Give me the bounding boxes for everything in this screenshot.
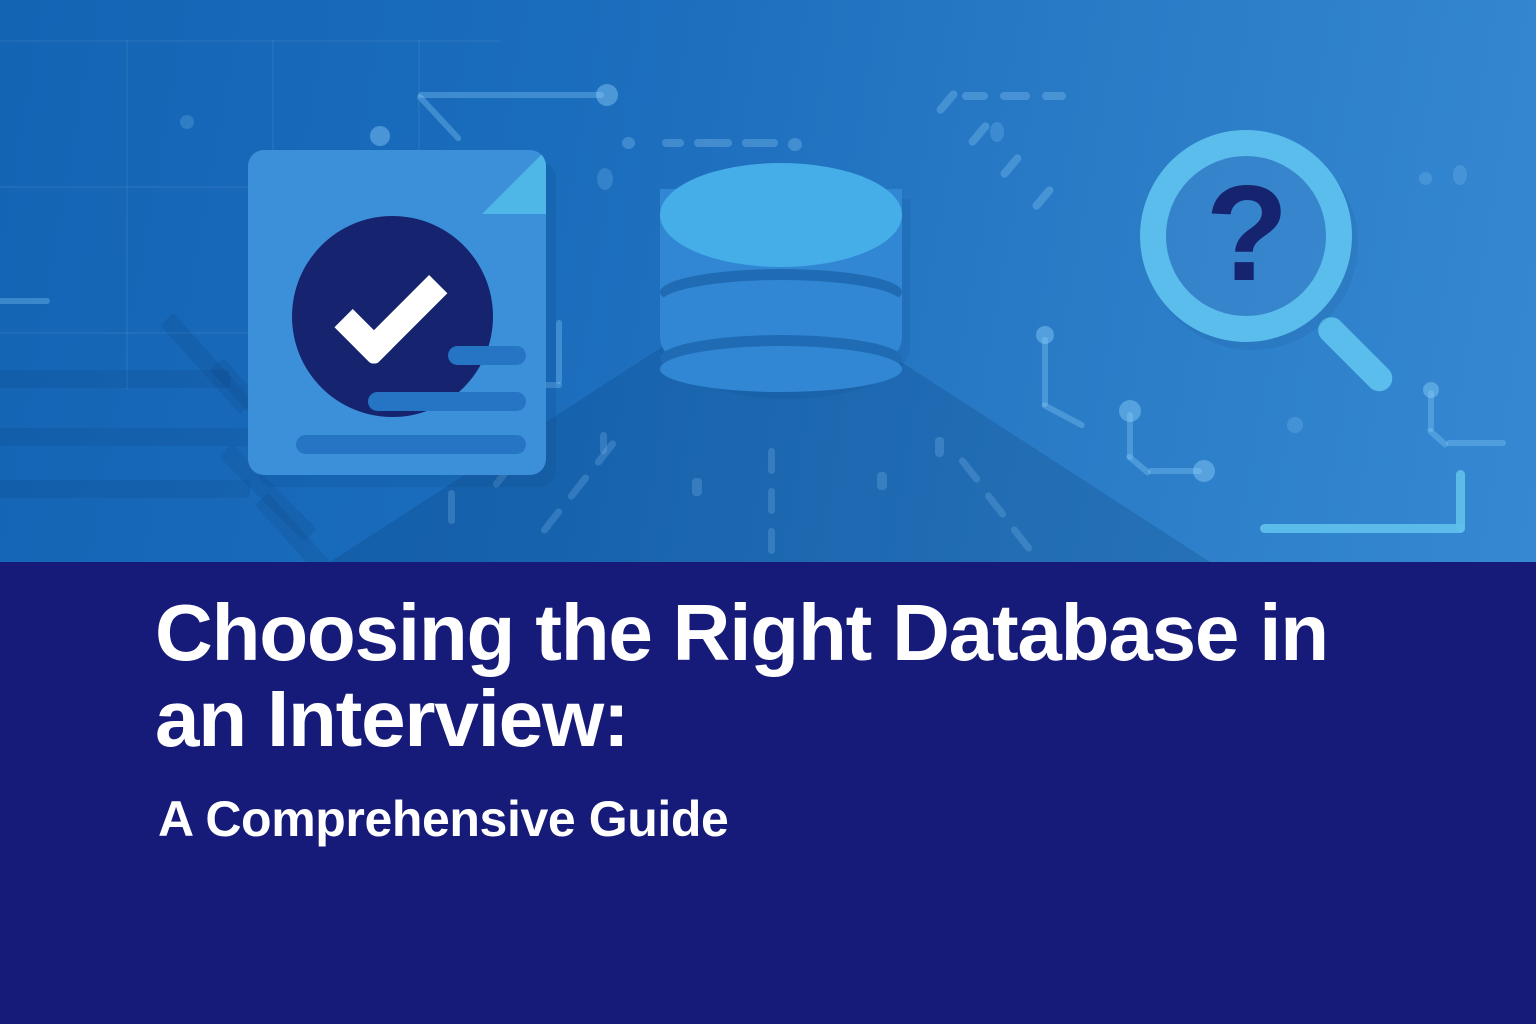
- soft-dot-7: [180, 115, 194, 129]
- verified-document-icon: [248, 150, 546, 475]
- checkmark-badge-icon: [292, 216, 493, 417]
- checkmark-icon: [334, 253, 447, 366]
- dash-run-3-a: [962, 92, 988, 100]
- circuit-trace-fr-h: [1446, 440, 1506, 446]
- dash-run-1-a: [622, 137, 635, 149]
- dash-run-1-b: [662, 139, 684, 147]
- ground-dash-1: [768, 448, 775, 474]
- ground-dash-3: [768, 528, 775, 554]
- circuit-ribbon-6: [0, 480, 250, 498]
- hero-illustration: ?: [0, 0, 1536, 562]
- soft-dot-2: [990, 122, 1004, 142]
- dash-run-3-c: [1042, 92, 1066, 100]
- corner-bracket-horizontal: [1260, 524, 1465, 533]
- circuit-node-f: [1423, 382, 1439, 398]
- circuit-ribbon-3: [0, 370, 230, 388]
- circuit-node-b: [370, 126, 390, 146]
- magnifier-question-icon: ?: [1140, 130, 1410, 400]
- circuit-trace-fr-diag: [1426, 427, 1449, 449]
- database-cylinder-icon: [660, 163, 902, 415]
- dash-run-1-c: [694, 139, 732, 147]
- circuit-trace-top: [418, 92, 604, 98]
- circuit-ribbon-1: [0, 428, 260, 446]
- ground-dash-8: [935, 437, 944, 457]
- dash-run-2-c: [999, 153, 1023, 180]
- circuit-node-a: [596, 84, 618, 106]
- dash-run-2-b: [967, 121, 991, 148]
- dash-run-1-d: [742, 139, 778, 147]
- document-text-line-2: [368, 392, 526, 411]
- ground-dash-7: [877, 472, 887, 490]
- dash-run-1-e: [788, 138, 802, 151]
- corner-bracket-vertical: [1456, 470, 1465, 532]
- ground-dash-6: [692, 478, 702, 496]
- page-subtitle: A Comprehensive Guide: [158, 790, 728, 848]
- dash-run-2-a: [935, 89, 959, 116]
- cylinder-fill-1: [660, 280, 902, 326]
- ground-dash-4: [448, 490, 455, 524]
- dash-run-2-d: [1031, 185, 1055, 212]
- document-fold-icon: [482, 150, 546, 214]
- page-title: Choosing the Right Database in an Interv…: [155, 590, 1385, 763]
- document-text-line-3: [296, 435, 526, 454]
- banner-root: ? Choosing the Right Database in an Inte…: [0, 0, 1536, 1024]
- question-mark-glyph: ?: [1140, 130, 1352, 342]
- title-band: Choosing the Right Database in an Interv…: [0, 562, 1536, 1024]
- document-text-line-1: [448, 346, 526, 365]
- soft-dot-5: [1419, 172, 1432, 185]
- cylinder-fill-2: [660, 346, 902, 392]
- cylinder-top-ellipse: [660, 163, 902, 267]
- soft-dot-1: [597, 168, 613, 190]
- soft-dot-3: [1453, 165, 1467, 185]
- circuit-trace-bl-1: [0, 298, 50, 304]
- soft-dot-6: [1287, 417, 1303, 433]
- ground-dash-2: [768, 488, 775, 514]
- dash-run-3-b: [1000, 92, 1030, 100]
